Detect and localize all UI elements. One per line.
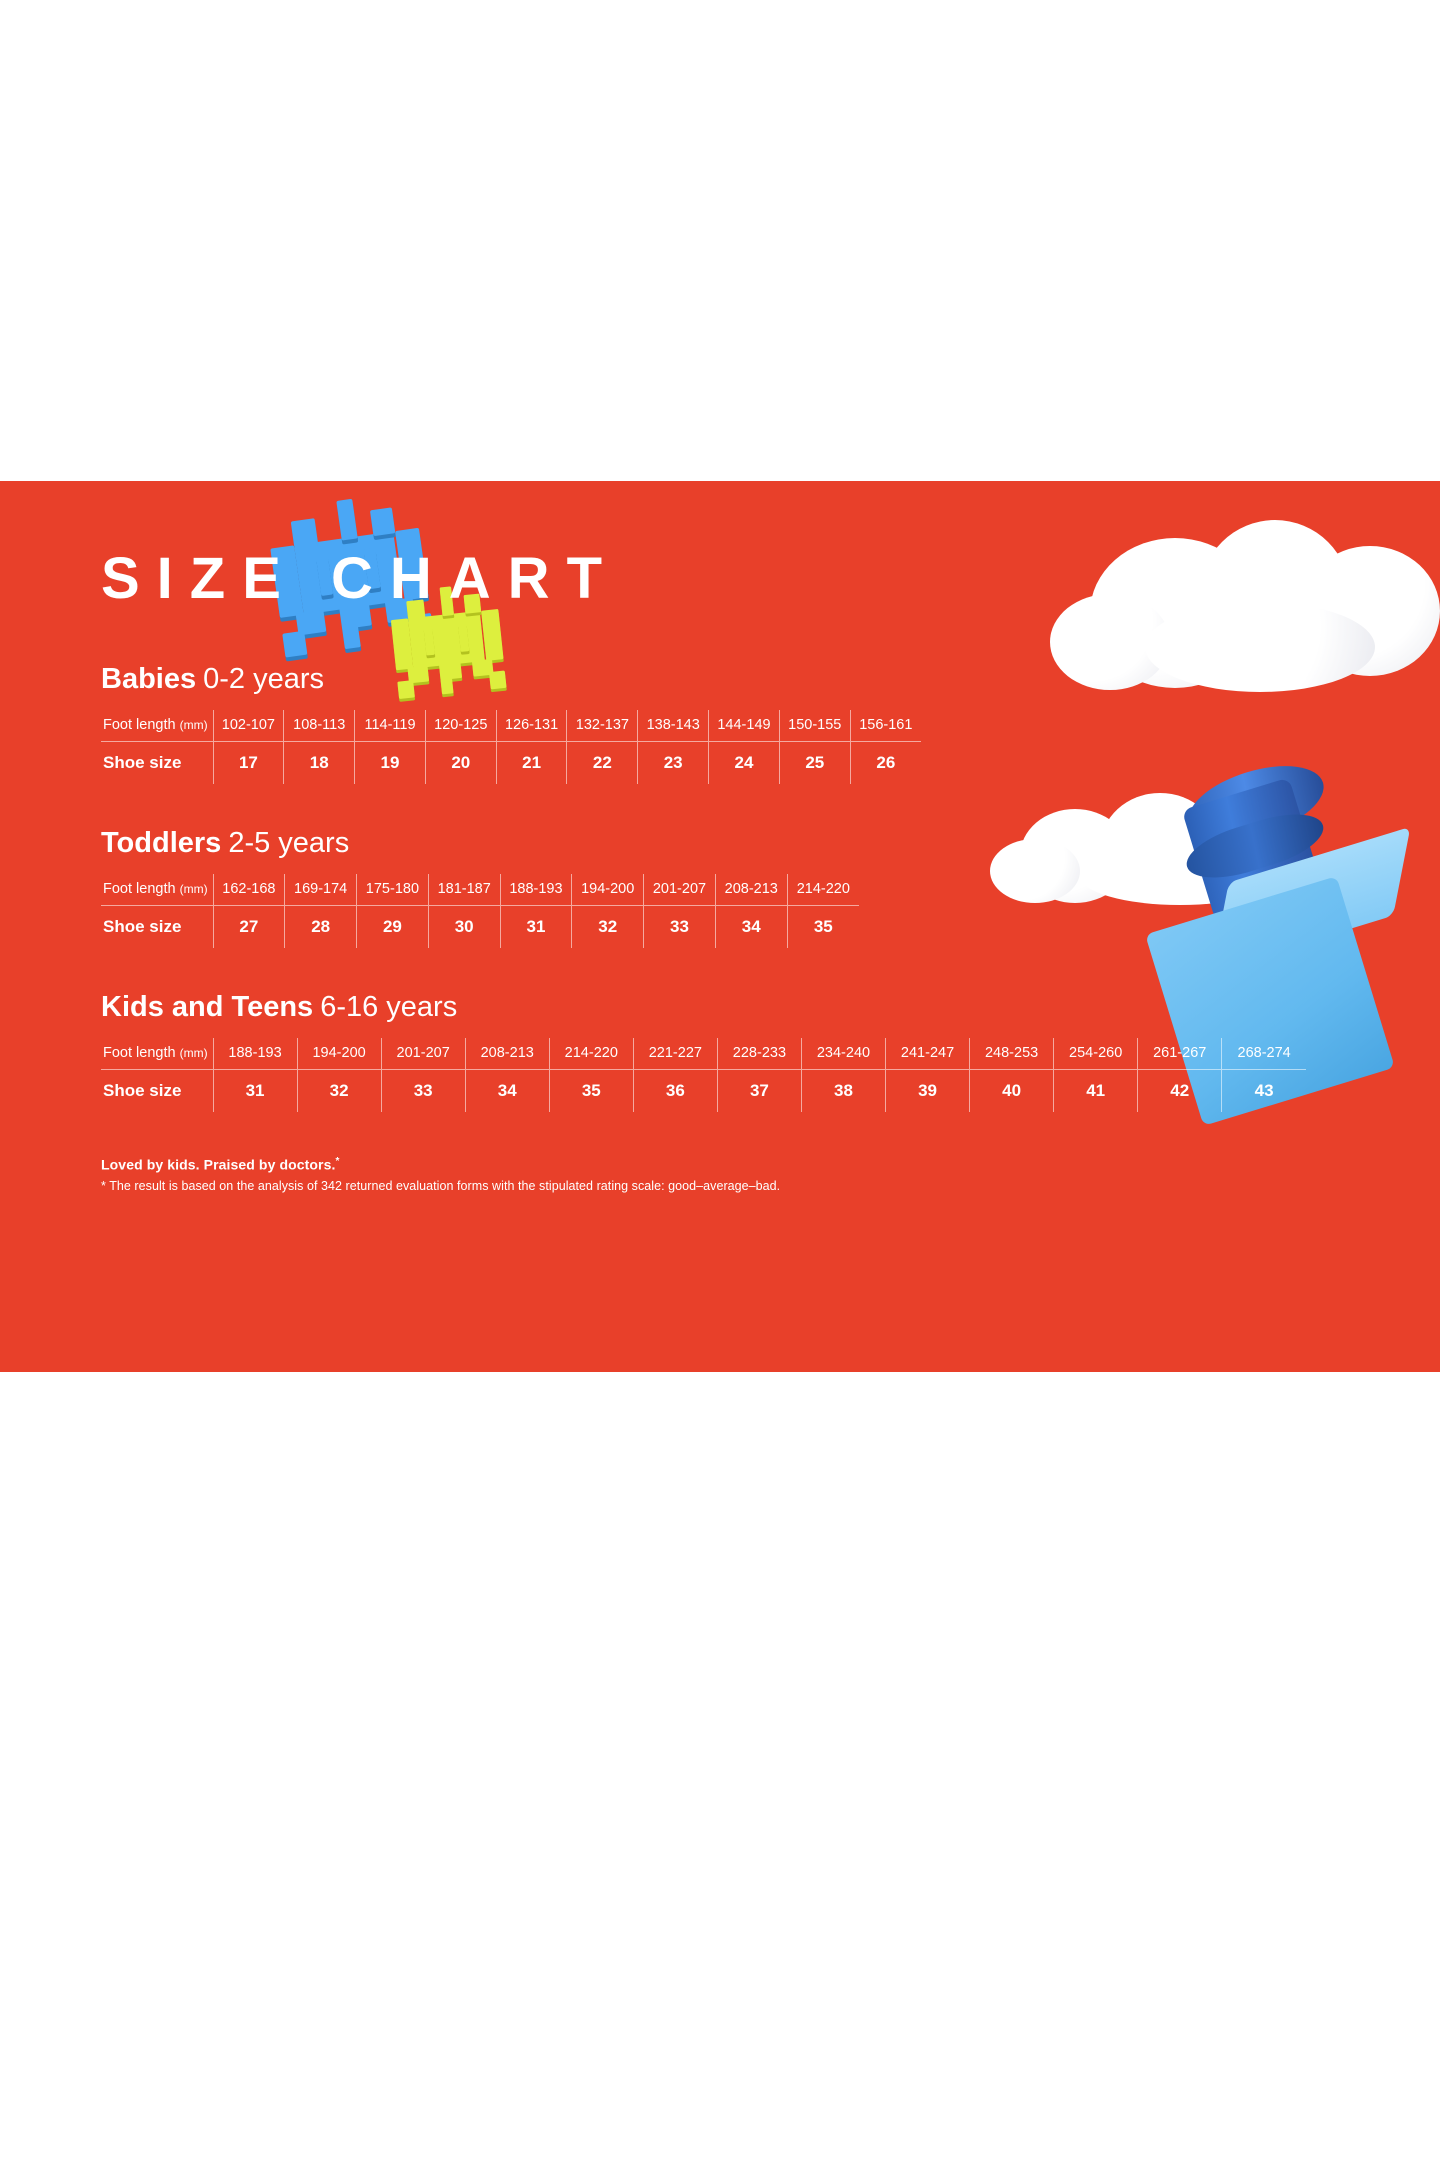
cell-shoe-size: 33 [381, 1069, 465, 1112]
table-row-foot-length: Foot length (mm) 162-168 169-174 175-180… [101, 874, 859, 906]
cell-foot-length: 144-149 [709, 710, 780, 742]
cell-shoe-size: 25 [779, 741, 850, 784]
cell-foot-length: 261-267 [1138, 1038, 1222, 1070]
section-heading-babies: Babies0-2 years [101, 664, 1341, 696]
footer-claim-marker: * [335, 1156, 339, 1167]
cell-foot-length: 132-137 [567, 710, 638, 742]
footer-footnote: * The result is based on the analysis of… [101, 1179, 1341, 1193]
cell-foot-length: 102-107 [213, 710, 284, 742]
poster-content: SIZE CHART Babies0-2 years Foot length (… [101, 550, 1341, 1193]
size-table-babies: Foot length (mm) 102-107 108-113 114-119… [101, 710, 921, 784]
cell-foot-length: 201-207 [381, 1038, 465, 1070]
cell-foot-length: 108-113 [284, 710, 355, 742]
foot-length-label: Foot length [103, 717, 176, 733]
row-header-shoe-size: Shoe size [101, 1069, 213, 1112]
foot-length-unit: (mm) [180, 1046, 208, 1060]
foot-length-unit: (mm) [180, 718, 208, 732]
footer-claim: Loved by kids. Praised by doctors.* [101, 1156, 1341, 1173]
foot-length-label: Foot length [103, 1045, 176, 1061]
cell-shoe-size: 28 [285, 905, 357, 948]
table-row-shoe-size: Shoe size 27 28 29 30 31 32 33 34 35 [101, 905, 859, 948]
section-babies: Babies0-2 years Foot length (mm) 102-107… [101, 664, 1341, 784]
cell-shoe-size: 30 [428, 905, 500, 948]
cell-shoe-size: 42 [1138, 1069, 1222, 1112]
foot-length-unit: (mm) [180, 882, 208, 896]
cell-foot-length: 188-193 [213, 1038, 297, 1070]
cell-foot-length: 234-240 [801, 1038, 885, 1070]
cell-shoe-size: 31 [213, 1069, 297, 1112]
section-name: Toddlers [101, 827, 221, 859]
cell-shoe-size: 17 [213, 741, 284, 784]
row-header-foot-length: Foot length (mm) [101, 1038, 213, 1070]
cell-foot-length: 228-233 [717, 1038, 801, 1070]
section-heading-kids-and-teens: Kids and Teens6-16 years [101, 992, 1341, 1024]
cell-foot-length: 126-131 [496, 710, 567, 742]
section-toddlers: Toddlers2-5 years Foot length (mm) 162-1… [101, 828, 1341, 948]
section-age-range: 2-5 years [228, 827, 349, 859]
size-chart-poster: SIZE CHART Babies0-2 years Foot length (… [0, 481, 1440, 1372]
cell-shoe-size: 36 [633, 1069, 717, 1112]
cell-shoe-size: 33 [644, 905, 716, 948]
poster-footer: Loved by kids. Praised by doctors.* * Th… [101, 1156, 1341, 1194]
cell-foot-length: 194-200 [297, 1038, 381, 1070]
cell-shoe-size: 38 [801, 1069, 885, 1112]
cell-shoe-size: 23 [638, 741, 709, 784]
table-row-shoe-size: Shoe size 17 18 19 20 21 22 23 24 25 26 [101, 741, 921, 784]
section-age-range: 0-2 years [203, 663, 324, 695]
cell-foot-length: 169-174 [285, 874, 357, 906]
cell-foot-length: 268-274 [1222, 1038, 1306, 1070]
cell-shoe-size: 19 [355, 741, 426, 784]
table-row-foot-length: Foot length (mm) 102-107 108-113 114-119… [101, 710, 921, 742]
cell-shoe-size: 43 [1222, 1069, 1306, 1112]
cell-shoe-size: 18 [284, 741, 355, 784]
page-title: SIZE CHART [101, 550, 1341, 608]
cell-shoe-size: 35 [549, 1069, 633, 1112]
section-name: Babies [101, 663, 196, 695]
cell-foot-length: 120-125 [425, 710, 496, 742]
cell-shoe-size: 41 [1054, 1069, 1138, 1112]
cell-foot-length: 214-220 [549, 1038, 633, 1070]
section-name: Kids and Teens [101, 991, 313, 1023]
cell-shoe-size: 22 [567, 741, 638, 784]
row-header-foot-length: Foot length (mm) [101, 710, 213, 742]
cell-shoe-size: 34 [715, 905, 787, 948]
cell-foot-length: 156-161 [850, 710, 921, 742]
size-table-kids-and-teens: Foot length (mm) 188-193 194-200 201-207… [101, 1038, 1306, 1112]
cell-foot-length: 138-143 [638, 710, 709, 742]
cell-foot-length: 208-213 [465, 1038, 549, 1070]
cell-shoe-size: 37 [717, 1069, 801, 1112]
cell-foot-length: 162-168 [213, 874, 285, 906]
cell-shoe-size: 26 [850, 741, 921, 784]
cell-shoe-size: 24 [709, 741, 780, 784]
cell-foot-length: 241-247 [886, 1038, 970, 1070]
cell-foot-length: 214-220 [787, 874, 859, 906]
cell-foot-length: 150-155 [779, 710, 850, 742]
row-header-shoe-size: Shoe size [101, 905, 213, 948]
cell-foot-length: 175-180 [357, 874, 429, 906]
cell-shoe-size: 29 [357, 905, 429, 948]
cell-shoe-size: 31 [500, 905, 572, 948]
cell-foot-length: 114-119 [355, 710, 426, 742]
cell-shoe-size: 32 [572, 905, 644, 948]
cell-foot-length: 188-193 [500, 874, 572, 906]
cell-foot-length: 254-260 [1054, 1038, 1138, 1070]
cell-shoe-size: 40 [970, 1069, 1054, 1112]
cell-foot-length: 248-253 [970, 1038, 1054, 1070]
cell-shoe-size: 32 [297, 1069, 381, 1112]
table-row-shoe-size: Shoe size 31 32 33 34 35 36 37 38 39 40 … [101, 1069, 1306, 1112]
cell-foot-length: 221-227 [633, 1038, 717, 1070]
cell-foot-length: 208-213 [715, 874, 787, 906]
cell-shoe-size: 20 [425, 741, 496, 784]
foot-length-label: Foot length [103, 881, 176, 897]
row-header-foot-length: Foot length (mm) [101, 874, 213, 906]
section-heading-toddlers: Toddlers2-5 years [101, 828, 1341, 860]
section-kids-and-teens: Kids and Teens6-16 years Foot length (mm… [101, 992, 1341, 1112]
row-header-shoe-size: Shoe size [101, 741, 213, 784]
cell-foot-length: 181-187 [428, 874, 500, 906]
cell-shoe-size: 35 [787, 905, 859, 948]
cell-shoe-size: 27 [213, 905, 285, 948]
cell-shoe-size: 34 [465, 1069, 549, 1112]
cell-shoe-size: 21 [496, 741, 567, 784]
cell-shoe-size: 39 [886, 1069, 970, 1112]
cell-foot-length: 201-207 [644, 874, 716, 906]
footer-claim-text: Loved by kids. Praised by doctors. [101, 1156, 335, 1172]
section-age-range: 6-16 years [320, 991, 457, 1023]
table-row-foot-length: Foot length (mm) 188-193 194-200 201-207… [101, 1038, 1306, 1070]
size-table-toddlers: Foot length (mm) 162-168 169-174 175-180… [101, 874, 859, 948]
cell-foot-length: 194-200 [572, 874, 644, 906]
